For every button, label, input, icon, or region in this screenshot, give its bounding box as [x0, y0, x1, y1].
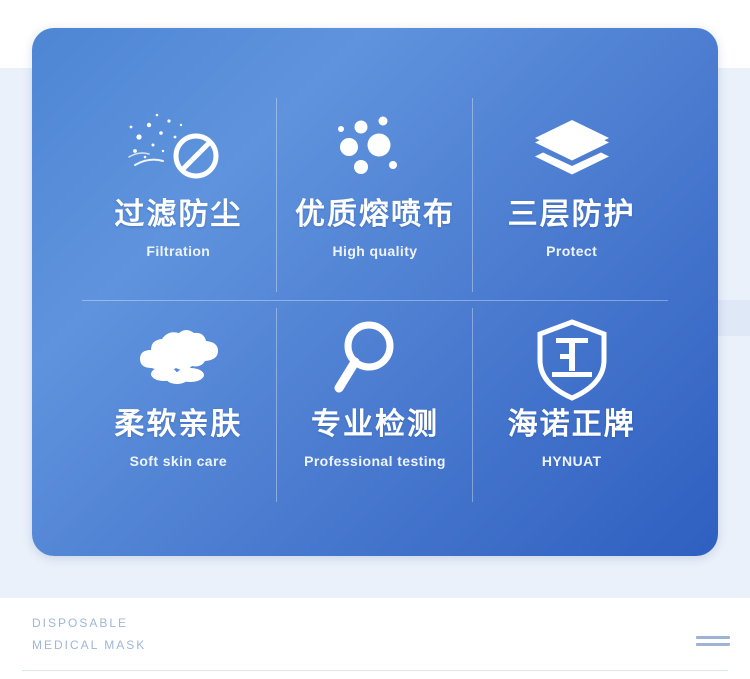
- dust-filter-icon: [123, 104, 233, 196]
- feature-title-cn: 优质熔喷布: [295, 198, 455, 231]
- feature-title-en: HYNUAT: [542, 453, 602, 469]
- equals-mark-icon: [696, 636, 730, 650]
- feature-title-en: Filtration: [146, 243, 210, 259]
- melt-blown-bubbles-icon: [327, 104, 423, 196]
- right-edge-strip: [716, 300, 750, 336]
- feature-item-high-quality[interactable]: 优质熔喷布 High quality: [277, 90, 474, 300]
- footer-caption: DISPOSABLE MEDICAL MASK: [32, 612, 146, 656]
- feature-item-soft-skin[interactable]: 柔软亲肤 Soft skin care: [80, 300, 277, 510]
- feature-item-protect[interactable]: 三层防护 Protect: [473, 90, 670, 300]
- feature-item-professional-testing[interactable]: 专业检测 Professional testing: [277, 300, 474, 510]
- footer-line-2: MEDICAL MASK: [32, 634, 146, 656]
- footer-line-1: DISPOSABLE: [32, 612, 146, 634]
- feature-item-brand[interactable]: 海诺正牌 HYNUAT: [473, 300, 670, 510]
- feature-title-en: Protect: [546, 243, 597, 259]
- page-root: 过滤防尘 Filtration: [0, 0, 750, 679]
- feature-title-en: Soft skin care: [130, 453, 227, 469]
- feature-title-cn: 海诺正牌: [508, 408, 636, 441]
- magnifier-icon: [331, 314, 419, 406]
- feature-title-cn: 专业检测: [311, 408, 439, 441]
- feature-title-cn: 过滤防尘: [114, 198, 242, 231]
- feature-grid: 过滤防尘 Filtration: [80, 90, 670, 510]
- bottom-divider: [22, 670, 728, 671]
- three-layers-icon: [527, 104, 617, 196]
- feature-card: 过滤防尘 Filtration: [32, 28, 718, 556]
- feature-title-cn: 柔软亲肤: [114, 408, 242, 441]
- feature-title-en: High quality: [333, 243, 418, 259]
- shield-zheng-icon: [532, 314, 612, 406]
- soft-cloud-icon: [128, 314, 228, 406]
- feature-item-filtration[interactable]: 过滤防尘 Filtration: [80, 90, 277, 300]
- feature-title-en: Professional testing: [304, 453, 446, 469]
- feature-title-cn: 三层防护: [508, 198, 636, 231]
